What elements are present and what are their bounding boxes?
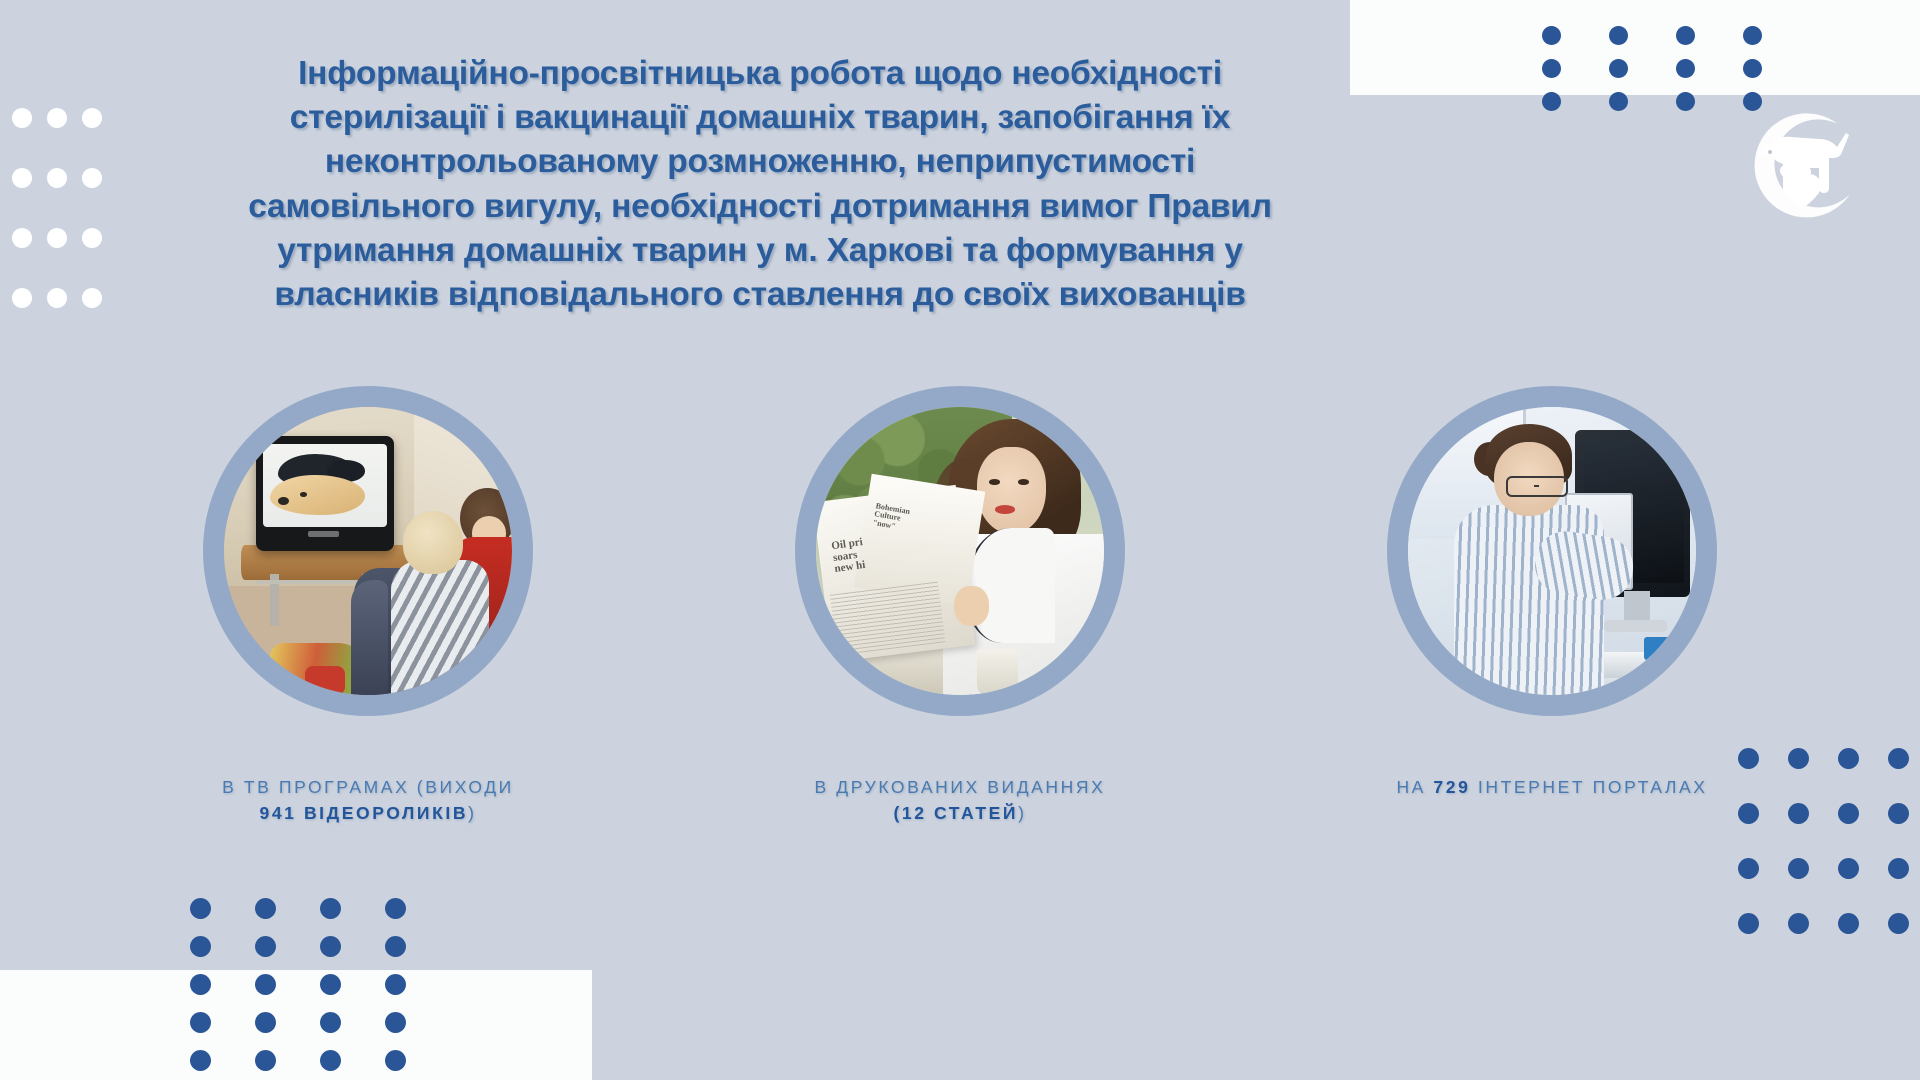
decor-bottom-left-dot <box>255 898 276 919</box>
caption-1-prefix: В ТВ ПРОГРАМАХ (ВИХОДИ <box>222 777 514 797</box>
title-line-2: стерилізації і вакцинації домашніх твари… <box>240 96 1280 140</box>
decor-bottom-left-dot <box>320 1050 341 1071</box>
decor-top-right-dot <box>1676 59 1695 78</box>
decor-top-right-dot <box>1542 92 1561 111</box>
decor-right-dot <box>1738 858 1759 879</box>
decor-bottom-left-dot <box>255 936 276 957</box>
decor-top-right-dot <box>1609 92 1628 111</box>
caption-2-bold: (12 СТАТЕЙ <box>893 803 1018 823</box>
card-tv-programs: В ТВ ПРОГРАМАХ (ВИХОДИ 941 ВІДЕОРОЛИКІВ) <box>203 386 533 827</box>
decor-bottom-left-dot <box>385 936 406 957</box>
caption-tv-programs: В ТВ ПРОГРАМАХ (ВИХОДИ 941 ВІДЕОРОЛИКІВ) <box>203 774 533 827</box>
decor-top-right-dot <box>1542 59 1561 78</box>
caption-print-media: В ДРУКОВАНИХ ВИДАННЯХ (12 СТАТЕЙ) <box>815 774 1106 827</box>
title-line-4: самовільного вигулу, необхідності дотрим… <box>240 185 1280 229</box>
woman-reading-newspaper-photo: Oil prisoarsnew hi BohemianCulture"now" <box>816 407 1104 695</box>
circle-frame-2: Oil prisoarsnew hi BohemianCulture"now" <box>795 386 1125 716</box>
decor-right-dot <box>1838 858 1859 879</box>
decor-left-dot <box>47 288 67 308</box>
decor-top-right-dot <box>1743 26 1762 45</box>
decor-bottom-left-dot <box>320 936 341 957</box>
dot-grid-bottom-left <box>190 898 450 1080</box>
slide-root: Інформаційно-просвітницька робота щодо н… <box>0 0 1920 1080</box>
decor-top-right-dot <box>1609 59 1628 78</box>
dot-grid-left <box>12 108 117 348</box>
caption-internet-portals: НА 729 ІНТЕРНЕТ ПОРТАЛАХ <box>1396 774 1707 800</box>
decor-bottom-left-dot <box>320 1012 341 1033</box>
caption-2-prefix: В ДРУКОВАНИХ ВИДАННЯХ <box>815 777 1106 797</box>
decor-bottom-left-dot <box>385 898 406 919</box>
decor-right-dot <box>1738 913 1759 934</box>
decor-right-dot <box>1788 858 1809 879</box>
decor-left-dot <box>47 108 67 128</box>
title-line-3: неконтрольованому розмноженню, неприпуст… <box>240 140 1280 184</box>
decor-right-dot <box>1888 858 1909 879</box>
decor-bottom-left-dot <box>255 974 276 995</box>
decor-bottom-left-dot <box>320 974 341 995</box>
page-title: Інформаційно-просвітницька робота щодо н… <box>240 52 1280 317</box>
decor-bottom-left-dot <box>190 1050 211 1071</box>
decor-left-dot <box>82 228 102 248</box>
caption-3-suffix: ІНТЕРНЕТ ПОРТАЛАХ <box>1478 777 1708 797</box>
decor-bottom-left-dot <box>255 1012 276 1033</box>
decor-bottom-left-dot <box>190 898 211 919</box>
title-line-5: утримання домашніх тварин у м. Харкові т… <box>240 229 1280 273</box>
caption-2-suffix: ) <box>1018 803 1026 823</box>
circle-frame-1 <box>203 386 533 716</box>
decor-top-right-dot <box>1743 59 1762 78</box>
decor-left-dot <box>47 168 67 188</box>
decor-left-dot <box>12 288 32 308</box>
card-internet-portals: НА 729 ІНТЕРНЕТ ПОРТАЛАХ <box>1387 386 1717 827</box>
decor-top-right-dot <box>1609 26 1628 45</box>
decor-bottom-left-dot <box>320 898 341 919</box>
decor-left-dot <box>47 228 67 248</box>
card-print-media: Oil prisoarsnew hi BohemianCulture"now" … <box>795 386 1125 827</box>
decor-bottom-left-dot <box>255 1050 276 1071</box>
caption-1-suffix: ) <box>468 803 476 823</box>
decor-bottom-left-dot <box>385 974 406 995</box>
decor-left-dot <box>12 168 32 188</box>
caption-3-prefix: НА <box>1396 777 1426 797</box>
caption-1-bold: 941 ВІДЕОРОЛИКІВ <box>259 803 468 823</box>
decor-left-dot <box>82 168 102 188</box>
decor-right-dot <box>1838 913 1859 934</box>
decor-right-dot <box>1788 913 1809 934</box>
cards-row: В ТВ ПРОГРАМАХ (ВИХОДИ 941 ВІДЕОРОЛИКІВ) <box>0 386 1920 827</box>
circle-frame-3 <box>1387 386 1717 716</box>
decor-bottom-left-dot <box>385 1012 406 1033</box>
decor-left-dot <box>12 228 32 248</box>
decor-bottom-left-dot <box>190 1012 211 1033</box>
decor-right-dot <box>1888 913 1909 934</box>
woman-at-computer-photo <box>1408 407 1696 695</box>
decor-bottom-left-dot <box>190 974 211 995</box>
decor-left-dot <box>82 108 102 128</box>
dog-cat-heart-logo <box>1742 108 1862 228</box>
decor-bottom-left-dot <box>385 1050 406 1071</box>
decor-top-right-dot <box>1676 92 1695 111</box>
decor-top-right-dot <box>1542 26 1561 45</box>
decor-left-dot <box>82 288 102 308</box>
decor-bottom-left-dot <box>190 936 211 957</box>
kids-watching-tv-photo <box>224 407 512 695</box>
caption-3-bold: 729 <box>1433 777 1470 797</box>
decor-top-right-dot <box>1676 26 1695 45</box>
title-line-1: Інформаційно-просвітницька робота щодо н… <box>240 52 1280 96</box>
decor-left-dot <box>12 108 32 128</box>
title-line-6: власників відповідального ставлення до с… <box>240 273 1280 317</box>
